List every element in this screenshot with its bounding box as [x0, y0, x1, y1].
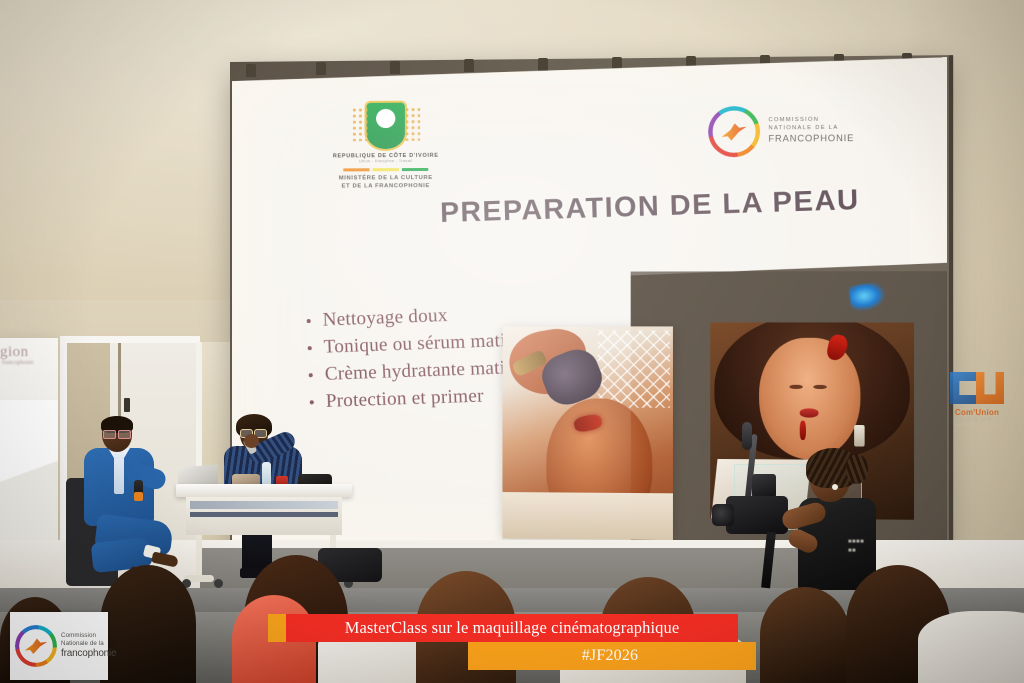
- moderator-microphone-grip: [134, 492, 143, 501]
- table-panel-stripe: [190, 501, 338, 509]
- moderator-glasses-icon: [103, 430, 131, 437]
- cnf-wordmark: Commission Nationale de la francophonie: [61, 632, 116, 660]
- cnf-line3: francophonie: [61, 648, 116, 661]
- coat-of-arms-icon: [367, 103, 405, 150]
- board-edge: [949, 55, 953, 547]
- elephant-crest-icon: [378, 116, 394, 126]
- flag-bars-icon: [320, 168, 451, 172]
- photo-lips: [800, 409, 819, 418]
- comunion-group-watermark: Com'Union GROUP communication & events: [938, 372, 1016, 434]
- cnf-line2: Nationale de la: [61, 640, 116, 648]
- comunion-logo-icon: [950, 372, 1004, 406]
- photo-eye-right: [814, 384, 827, 389]
- photo-blood-drip: [800, 421, 806, 441]
- projector-glare: [848, 281, 887, 312]
- door-hinge: [124, 398, 130, 412]
- audience-shoulder: [918, 611, 1024, 683]
- operator-hair-bun: [846, 454, 868, 484]
- ministry-motto: Union - Discipline - Travail: [320, 159, 451, 164]
- moderator-tie: [114, 452, 124, 494]
- ministry-name-label: MINISTÈRE DE LA CULTURE ET DE LA FRANCOP…: [320, 174, 451, 192]
- photo-eye-left: [789, 384, 802, 389]
- screenshot-root: gion francophonie: [0, 0, 1024, 683]
- presenter-table-top: [176, 484, 352, 497]
- francophonie-ring-icon: [708, 106, 760, 157]
- event-hashtag: #JF2026: [468, 642, 752, 670]
- photo-net-background: [598, 331, 670, 408]
- event-banner: MasterClass sur le maquillage cinématogr…: [268, 612, 758, 674]
- audience-head: [760, 587, 850, 683]
- left-poster-subtext: francophonie: [2, 360, 58, 366]
- watermark-name: Com'Union: [938, 408, 1016, 417]
- table-panel-stripe-dark: [190, 512, 338, 517]
- audience-head: [100, 565, 196, 683]
- camera-top-handle: [752, 474, 776, 498]
- left-poster-text: gion: [0, 344, 58, 361]
- francophonie-line3: FRANCOPHONIE: [768, 132, 854, 145]
- cnf-ring-icon: [15, 625, 57, 667]
- event-title: MasterClass sur le maquillage cinématogr…: [286, 614, 738, 642]
- francophonie-logo: COMMISSION NATIONALE DE LA FRANCOPHONIE: [708, 103, 885, 159]
- francophonie-wordmark: COMMISSION NATIONALE DE LA FRANCOPHONIE: [768, 117, 854, 145]
- speaker-hand: [244, 434, 259, 448]
- commission-francophonie-logo: Commission Nationale de la francophonie: [10, 612, 108, 680]
- ministry-logo: REPUBLIQUE DE CÔTE D'IVOIRE Union - Disc…: [320, 102, 451, 191]
- camera-shotgun-mic: [742, 422, 752, 450]
- watermark-tagline: communication & events: [938, 423, 1016, 427]
- operator-earring: [832, 484, 838, 490]
- cnf-line1: Commission: [61, 632, 116, 640]
- slide-photo-makeup-man: [502, 326, 672, 540]
